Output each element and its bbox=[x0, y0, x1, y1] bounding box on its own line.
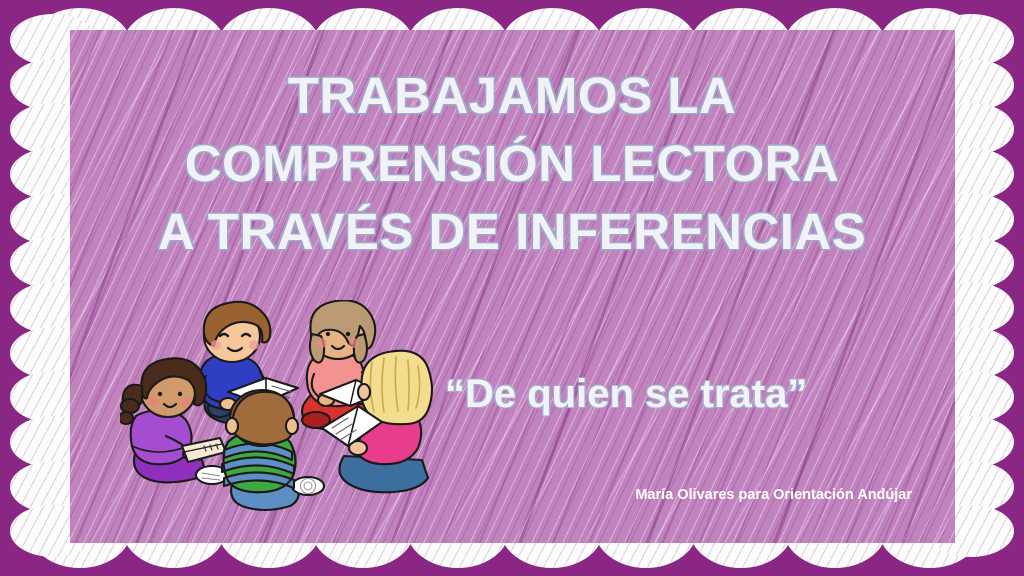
page-title: TRABAJAMOS LA COMPRENSIÓN LECTORA A TRAV… bbox=[0, 62, 1024, 265]
subtitle: “De quien se trata” bbox=[445, 372, 807, 417]
slide-canvas: TRABAJAMOS LA COMPRENSIÓN LECTORA A TRAV… bbox=[0, 0, 1024, 576]
title-line-2: COMPRENSIÓN LECTORA bbox=[0, 130, 1024, 198]
title-line-3: A TRAVÉS DE INFERENCIAS bbox=[0, 198, 1024, 266]
children-reading-illustration bbox=[120, 300, 440, 515]
title-line-1: TRABAJAMOS LA bbox=[0, 62, 1024, 130]
credit-line: María Olivares para Orientación Andújar bbox=[635, 487, 912, 503]
